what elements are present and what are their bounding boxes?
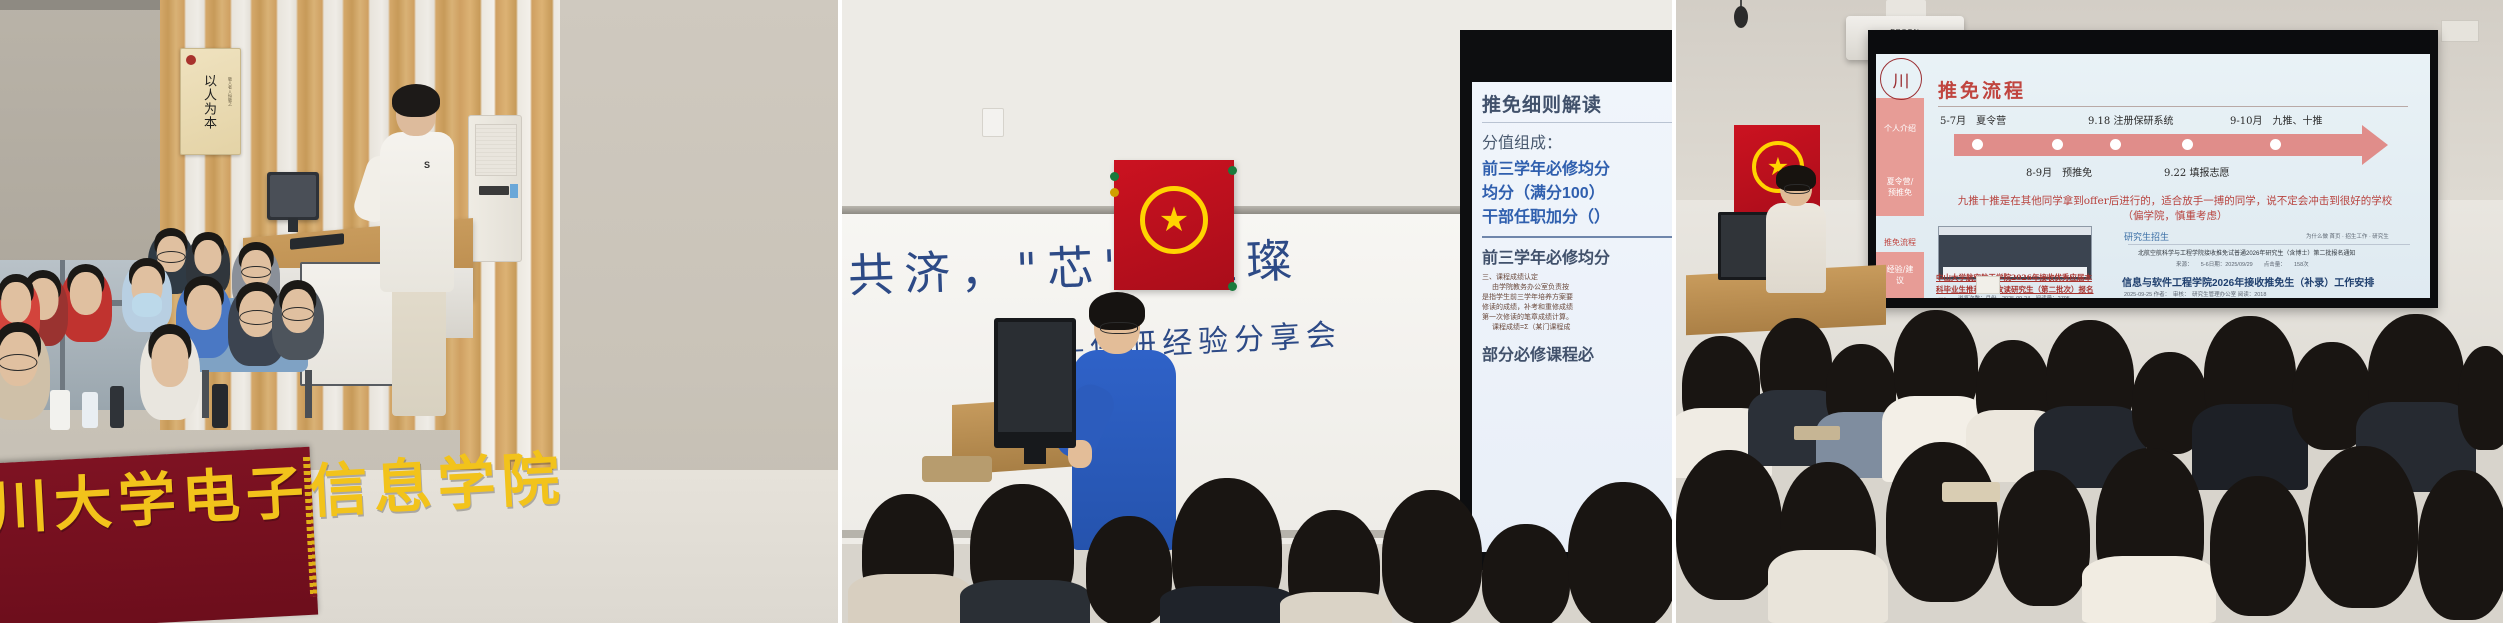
water-bottle [82,392,98,428]
monitor-stand [288,218,298,232]
desk-edge [1942,482,2000,502]
timeline-dot [2182,139,2193,150]
host-jacket [1766,203,1826,293]
league-star-emblem: ★ [1140,186,1208,254]
logo-glyph: 川 [1893,67,1910,92]
light-switch[interactable] [982,108,1004,137]
desk-edge [922,456,992,482]
timeline-arrow [1954,134,2362,156]
photo-panel-right: EPSON 个人介绍 夏令营/ 预推免 推免流程 经验/建 议 川 推免流程 5… [1676,0,2503,623]
student-jacket [380,132,454,292]
audience-left [0,240,300,440]
website-row-title[interactable]: 北航空航科学与工程学院接收推免试普通2026年研究生（含博士）第二批报名通知 [2138,248,2355,257]
jacket-logo-text: S [424,160,431,170]
slide-note-line: 九推十推是在其他同学拿到offer后进行的，适合放手一搏的同学，说不定会冲击到很… [1958,195,2393,207]
university-logo: 川 [1880,58,1922,100]
slide-body-line: 是指学生前三学年培养方案要 [1482,293,1672,303]
desk-edge [1794,426,1840,440]
youth-league-flag: ★ [1114,160,1234,290]
slide-note: 九推十推是在其他同学拿到offer后进行的，适合放手一搏的同学，说不定会冲击到很… [1936,194,2414,224]
sidebar-item-intro[interactable]: 个人介绍 [1876,98,1924,158]
timeline-dot [1972,139,1983,150]
slide-body-line: 课程成绩=Σ（某门课程成 [1482,323,1672,333]
slide-section-heading: 部分必修课程必 [1482,341,1672,365]
water-bottle [50,390,70,430]
banner-text: 川大学电子信息学院 [0,460,321,539]
browser-chrome [1939,227,2091,235]
slide-title: 推免细则解读 [1482,90,1672,117]
slide-bullet: 前三学年必修均分 [1482,158,1672,182]
notice-title-mid: 信息与软件工程学院2026年接收推免生（补录）工作安排 [2122,274,2374,289]
timeline-dot [2110,139,2121,150]
lectern-monitor [267,172,319,220]
wall-poster: 以人为本 敬人者 人恒敬之 [180,48,241,155]
timeline-label: 9-10月 九推、十推 [2230,112,2322,127]
website-row-meta: 来源： 5-6日期：2025/09/29 点击量： 158次 [2176,260,2309,268]
slide-bullet: 均分（满分100） [1482,182,1672,206]
photo-panel-center: 共济，"芯"光璀璨 ——保研经验分享会 ★ 推免细则解读 分值组成： 前三学年必… [842,0,1672,623]
slide-body-line: 由学院教务办公室负责按 [1482,283,1672,293]
timeline-arrowhead [2362,125,2388,165]
poster-calligraphy: 以人为本 [201,74,216,130]
thermos [110,386,124,428]
magnet-icon [1228,282,1237,291]
notice-meta-mid: 2025-09-25 作者： 审核： 研究生管理办公室 阅读：2018 [2124,290,2266,298]
slide-divider [1482,122,1672,123]
seal-icon [186,55,196,65]
timeline-label: 8-9月 预推免 [2026,164,2092,179]
slide-body-line: 三、课程成绩认定 [1482,273,1672,283]
website-breadcrumb: 为什么做 首页 · 招生工作 · 研究生 [2306,232,2389,240]
ac-grill [475,124,517,176]
thermos [212,384,228,428]
slide-divider [1938,106,2408,107]
glasses-icon [1784,184,1810,194]
magnet-icon [1228,166,1237,175]
student-legs [392,286,446,416]
wall-vent [2441,20,2479,42]
glasses-icon [1100,322,1138,334]
website-section-title: 研究生招生 [2124,230,2169,243]
slide-title: 推免流程 [1938,76,2026,103]
ceiling-speaker-icon [1734,6,1748,28]
air-conditioner [468,115,522,262]
magnet-icon [1110,188,1119,197]
timeline-dot [2270,139,2281,150]
sidebar-item-camp[interactable]: 夏令营/ 预推免 [1876,158,1924,216]
ac-display [479,186,509,195]
sidebar-label: 夏令营/ 预推免 [1887,176,1914,198]
sidebar-label: 推免流程 [1884,237,1916,248]
slide-content: 个人介绍 夏令营/ 预推免 推免流程 经验/建 议 川 推免流程 5-7月 夏令… [1876,54,2430,298]
department-banner: 川大学电子信息学院 [0,447,318,623]
slide-section-heading: 前三学年必修均分 [1482,244,1672,268]
photo-panel-left: 以人为本 敬人者 人恒敬之 S [0,0,838,623]
notice-meta-left: 浏览次数：月份 2025-09-24 阅读量：2795 [1958,294,2070,298]
timeline-label: 9.22 填报志愿 [2164,164,2229,179]
timeline-label: 5-7月 夏令营 [1940,112,2006,127]
slide-body-line: 修读的成绩，补考和重修成绩 [1482,303,1672,313]
photo-collage: 以人为本 敬人者 人恒敬之 S [0,0,2503,623]
timeline-label: 9.18 注册保研系统 [2088,112,2173,127]
slide-note-line: （偏学院，慎重考虑） [2123,210,2228,222]
slide-bullet: 干部任职加分（） [1482,206,1672,230]
student-hair [392,84,440,117]
slide-body-line: 第一次修读的笔章成绩计算。 [1482,313,1672,323]
slide-subtitle: 分值组成： [1482,129,1672,153]
lectern-monitor [994,318,1076,448]
projection-screen: 个人介绍 夏令营/ 预推免 推免流程 经验/建 议 川 推免流程 5-7月 夏令… [1868,30,2438,308]
audience-right [1676,300,2503,623]
poster-side-text: 敬人者 人恒敬之 [228,77,233,106]
energy-label [510,184,518,198]
seated-host [1764,170,1828,290]
slide-divider [1482,236,1672,238]
magnet-icon [1110,172,1119,181]
presenting-student: S [378,90,474,390]
timeline-dot [2052,139,2063,150]
sidebar-label: 个人介绍 [1884,123,1916,134]
wall-socket[interactable] [1976,276,2000,294]
audience-center [842,470,1672,623]
sidebar-label: 经验/建 议 [1887,264,1914,286]
